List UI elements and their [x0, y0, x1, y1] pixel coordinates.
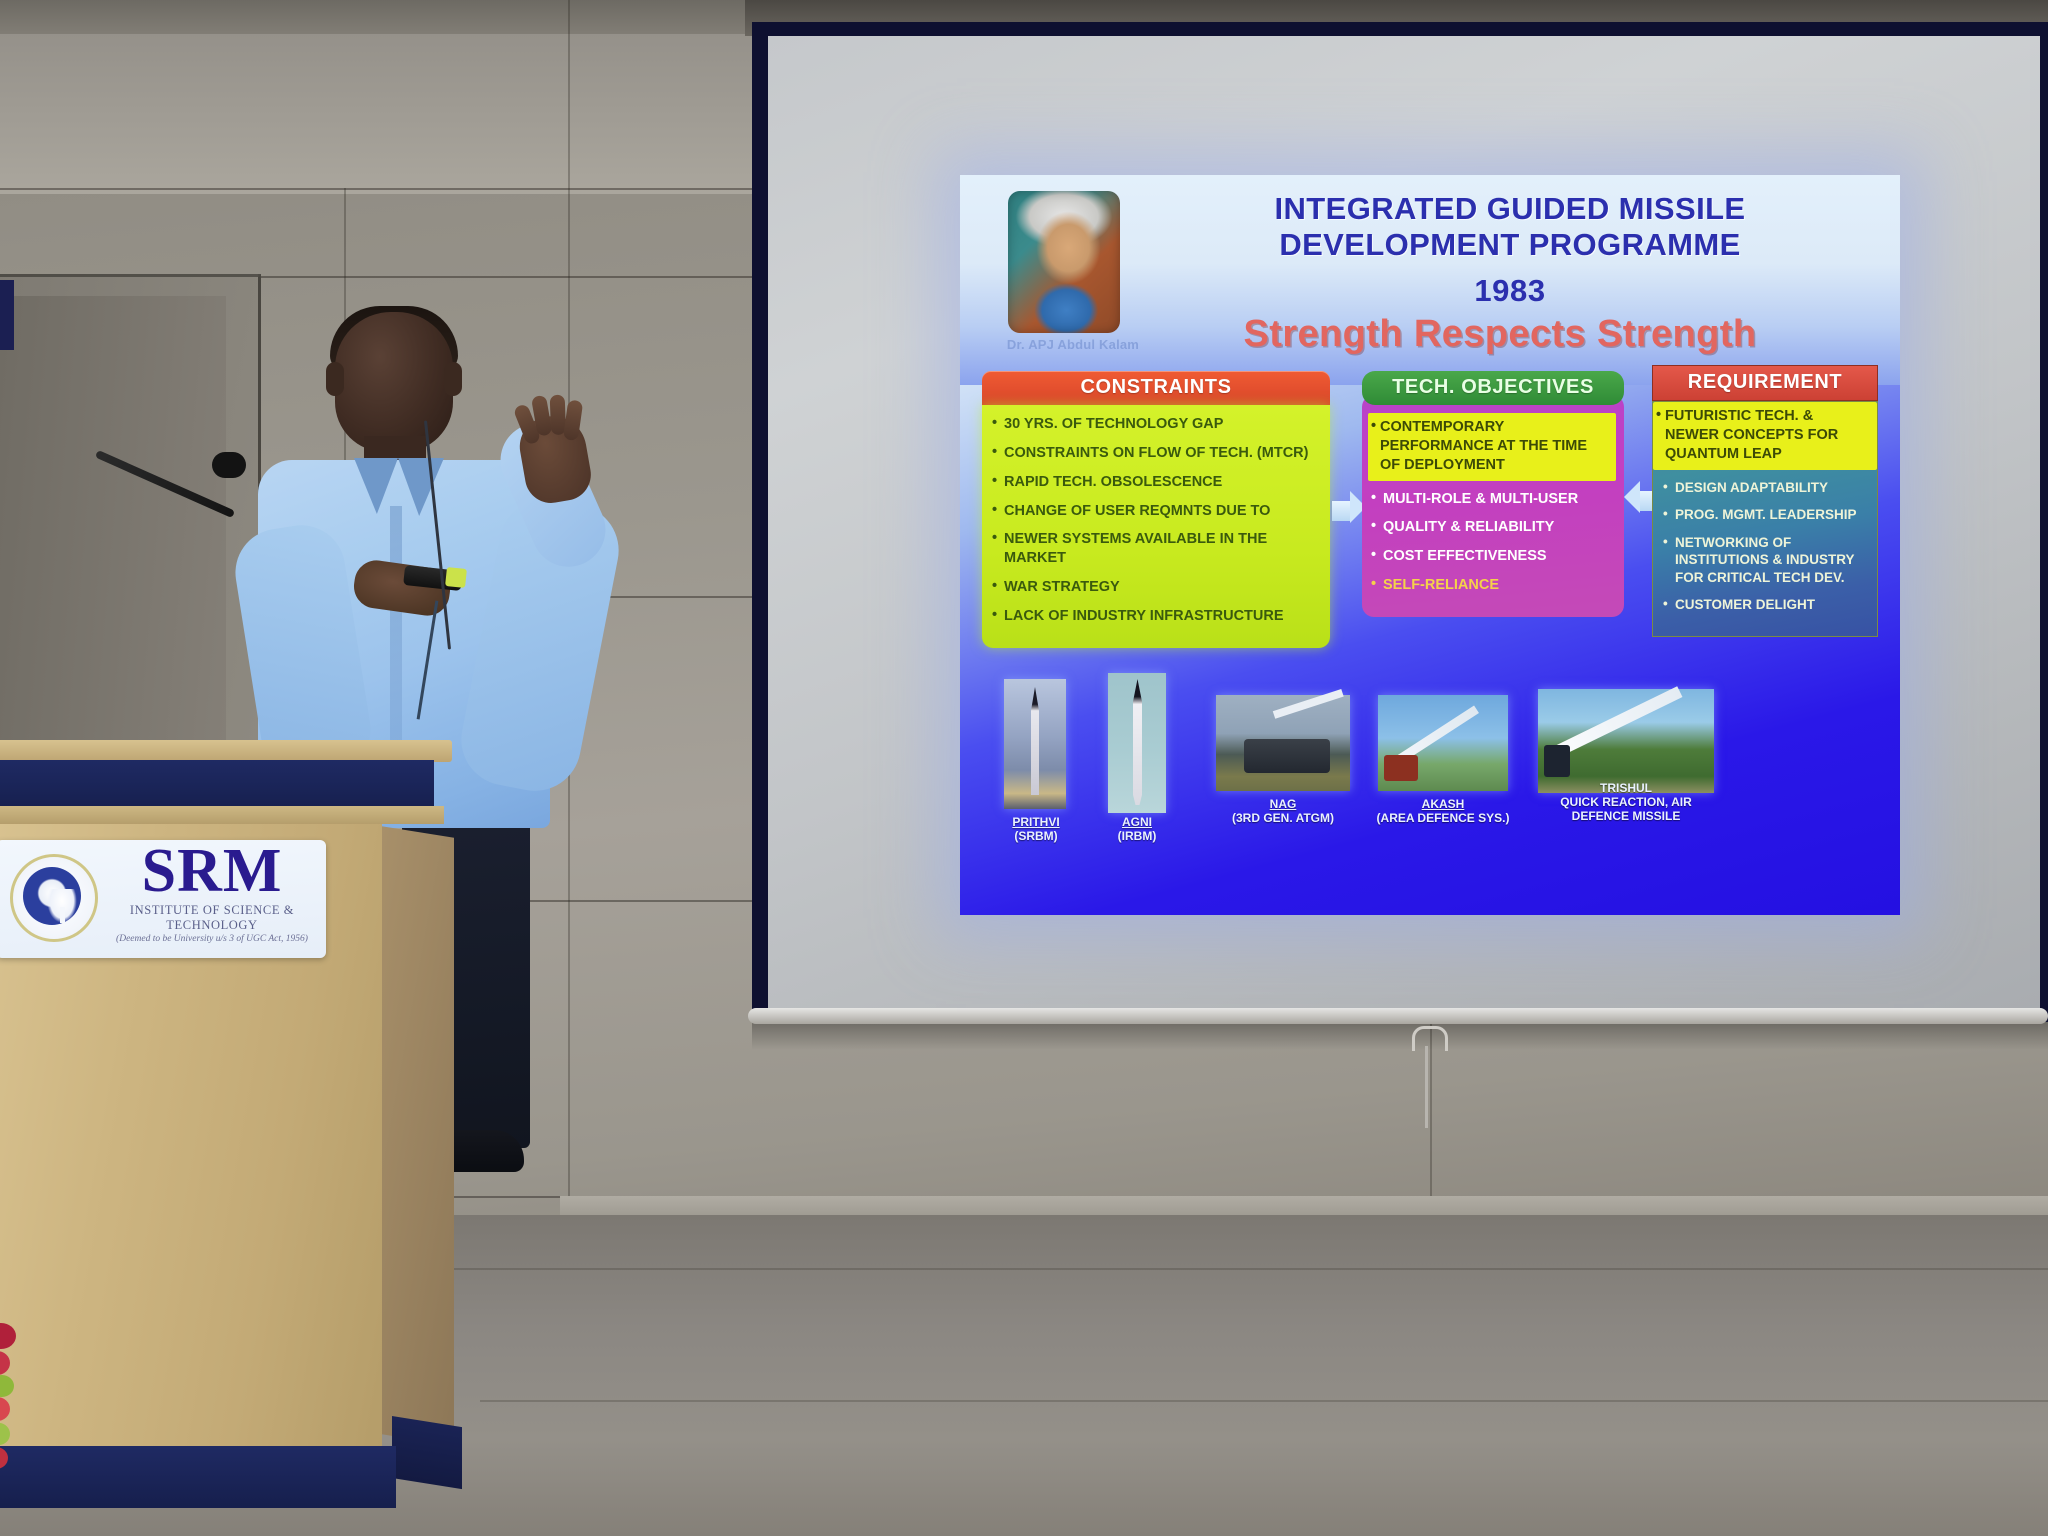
- panel-tech-objectives-header: TECH. OBJECTIVES: [1362, 371, 1624, 405]
- list-item: LACK OF INDUSTRY INFRASTRUCTURE: [992, 607, 1322, 626]
- slide-title-line1: INTEGRATED GUIDED MISSILE: [1140, 191, 1880, 227]
- list-item: NEWER SYSTEMS AVAILABLE IN THE MARKET: [992, 530, 1322, 568]
- ear: [444, 362, 462, 396]
- missile-caption-akash: AKASH (AREA DEFENCE SYS.): [1358, 797, 1528, 825]
- door-trim: [0, 280, 14, 350]
- list-item: SELF-RELIANCE: [1371, 576, 1616, 595]
- list-item: COST EFFECTIVENESS: [1371, 547, 1616, 566]
- list-item: DESIGN ADAPTABILITY: [1663, 479, 1869, 497]
- screen-pull-cord[interactable]: [1425, 1046, 1428, 1128]
- list-item: CHANGE OF USER REQMNTS DUE TO: [992, 502, 1322, 521]
- presentation-slide: Dr. APJ Abdul Kalam INTEGRATED GUIDED MI…: [960, 175, 1900, 915]
- srm-seal-inner: [23, 867, 81, 925]
- slide-tagline: Strength Respects Strength: [1120, 313, 1880, 356]
- panel-constraints-header: CONSTRAINTS: [982, 371, 1330, 405]
- tree-icon: [47, 889, 77, 923]
- list-item: CUSTOMER DELIGHT: [1663, 596, 1869, 614]
- screen-roll-bar[interactable]: [748, 1008, 2048, 1024]
- srm-seal-icon: [10, 854, 98, 942]
- missile-photo-nag: [1216, 695, 1350, 791]
- flower-arrangement: [0, 1305, 42, 1495]
- podium: SRM INSTITUTE OF SCIENCE & TECHNOLOGY (D…: [0, 740, 452, 1536]
- missile-subtitle: (IRBM): [1078, 829, 1196, 843]
- srm-legal-line: (Deemed to be University u/s 3 of UGC Ac…: [102, 934, 322, 944]
- missile-caption-nag: NAG (3RD GEN. ATGM): [1206, 797, 1360, 825]
- podium-base-side: [392, 1416, 462, 1489]
- panel-tech-objectives: TECH. OBJECTIVES CONTEMPORARY PERFORMANC…: [1362, 371, 1624, 617]
- missile-photo-trishul: [1538, 689, 1714, 793]
- missile-subtitle: (3RD GEN. ATGM): [1206, 811, 1360, 825]
- screen-drop-shadow: [752, 1022, 2048, 1050]
- screen-pull-hook-icon[interactable]: [1412, 1026, 1448, 1051]
- list-item: WAR STRATEGY: [992, 578, 1322, 597]
- missile-name: TRISHUL: [1534, 781, 1718, 795]
- podium-top-band: [0, 760, 434, 808]
- panel-constraints-body: 30 YRS. OF TECHNOLOGY GAP CONSTRAINTS ON…: [982, 405, 1330, 648]
- missile-subtitle: QUICK REACTION, AIR DEFENCE MISSILE: [1534, 795, 1718, 823]
- srm-brand: SRM: [102, 842, 322, 902]
- microphone-icon: [212, 452, 246, 478]
- missile-photo-agni: [1108, 673, 1166, 813]
- srm-wordmark: SRM INSTITUTE OF SCIENCE & TECHNOLOGY (D…: [102, 842, 322, 944]
- list-item: NETWORKING OF INSTITUTIONS & INDUSTRY FO…: [1663, 534, 1869, 587]
- floor-seam: [430, 1268, 2048, 1270]
- list-item: 30 YRS. OF TECHNOLOGY GAP: [992, 415, 1322, 434]
- panel-requirement: REQUIREMENT FUTURISTIC TECH. & NEWER CON…: [1652, 365, 1878, 637]
- missile-photo-prithvi: [1004, 679, 1066, 809]
- list-item: QUALITY & RELIABILITY: [1371, 518, 1616, 537]
- apj-abdul-kalam-portrait: [1008, 191, 1120, 333]
- list-item: MULTI-ROLE & MULTI-USER: [1371, 490, 1616, 509]
- panel-requirement-body: FUTURISTIC TECH. & NEWER CONCEPTS FOR QU…: [1652, 401, 1878, 637]
- floor-seam: [480, 1400, 2048, 1402]
- podium-base: [0, 1446, 396, 1508]
- lecture-hall-photo: Dr. APJ Abdul Kalam INTEGRATED GUIDED MI…: [0, 0, 2048, 1536]
- panel-tech-objectives-body: CONTEMPORARY PERFORMANCE AT THE TIME OF …: [1362, 395, 1624, 617]
- missile-photo-akash: [1378, 695, 1508, 791]
- missile-caption-trishul: TRISHUL QUICK REACTION, AIR DEFENCE MISS…: [1534, 781, 1718, 823]
- highlight-item: CONTEMPORARY PERFORMANCE AT THE TIME OF …: [1368, 413, 1616, 481]
- srm-logo-plaque: SRM INSTITUTE OF SCIENCE & TECHNOLOGY (D…: [0, 840, 326, 958]
- missile-subtitle: (AREA DEFENCE SYS.): [1358, 811, 1528, 825]
- list-item: RAPID TECH. OBSOLESCENCE: [992, 473, 1322, 492]
- clicker-tip: [445, 567, 467, 588]
- slide-title-line2: DEVELOPMENT PROGRAMME: [1140, 227, 1880, 263]
- missile-name: AGNI: [1078, 815, 1196, 829]
- slide-title: INTEGRATED GUIDED MISSILE DEVELOPMENT PR…: [1140, 191, 1880, 264]
- panel-constraints: CONSTRAINTS 30 YRS. OF TECHNOLOGY GAP CO…: [982, 371, 1330, 648]
- missile-name: NAG: [1206, 797, 1360, 811]
- missile-caption-agni: AGNI (IRBM): [1078, 815, 1196, 843]
- podium-side-face: [380, 826, 454, 1446]
- list-item: CONSTRAINTS ON FLOW OF TECH. (MTCR): [992, 444, 1322, 463]
- highlight-item: FUTURISTIC TECH. & NEWER CONCEPTS FOR QU…: [1653, 402, 1877, 470]
- podium-top-trim: [0, 806, 444, 824]
- slide-year: 1983: [1140, 273, 1880, 309]
- list-item: PROG. MGMT. LEADERSHIP: [1663, 506, 1869, 524]
- head: [335, 312, 453, 452]
- panel-requirement-header: REQUIREMENT: [1652, 365, 1878, 401]
- missile-name: AKASH: [1358, 797, 1528, 811]
- door-panel[interactable]: [0, 296, 226, 748]
- ear: [326, 362, 344, 396]
- srm-tagline: INSTITUTE OF SCIENCE & TECHNOLOGY: [102, 903, 322, 933]
- podium-top-edge: [0, 740, 452, 762]
